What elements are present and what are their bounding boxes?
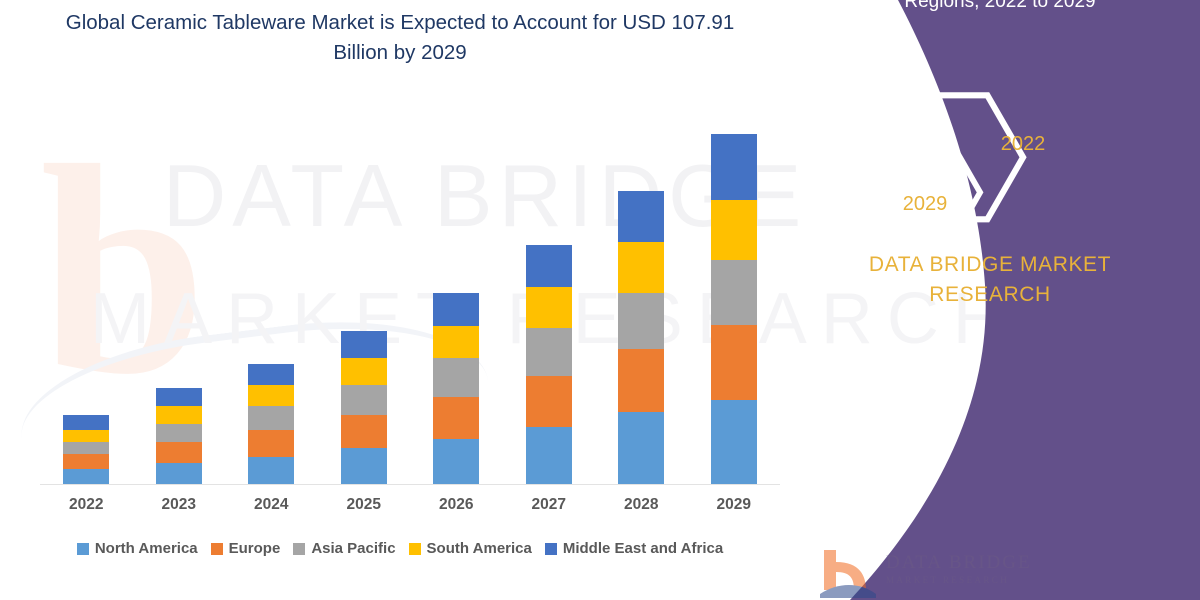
x-label-2023: 2023 <box>134 496 224 514</box>
segment-asia-pacific[interactable] <box>248 406 294 430</box>
segment-south-america[interactable] <box>433 326 479 359</box>
segment-south-america[interactable] <box>248 385 294 406</box>
infographic-root: b DATA BRIDGE MARKET RESEARCH Global Cer… <box>0 0 1200 600</box>
segment-middle-east-and-africa[interactable] <box>433 293 479 326</box>
chart-legend: North AmericaEuropeAsia PacificSouth Ame… <box>0 540 800 557</box>
brand-line-1: DATA BRIDGE MARKET <box>869 253 1111 276</box>
segment-asia-pacific[interactable] <box>433 358 479 397</box>
bar-2029[interactable] <box>711 134 757 484</box>
segment-asia-pacific[interactable] <box>711 260 757 326</box>
segment-south-america[interactable] <box>618 242 664 293</box>
legend-swatch-icon <box>77 543 89 555</box>
segment-middle-east-and-africa[interactable] <box>341 331 387 358</box>
segment-north-america[interactable] <box>63 469 109 484</box>
x-label-2025: 2025 <box>319 496 409 514</box>
segment-europe[interactable] <box>63 454 109 469</box>
bridge-logo-icon <box>820 548 876 598</box>
segment-middle-east-and-africa[interactable] <box>156 388 202 406</box>
segment-south-america[interactable] <box>711 200 757 260</box>
segment-north-america[interactable] <box>618 412 664 484</box>
legend-swatch-icon <box>545 543 557 555</box>
x-label-2022: 2022 <box>41 496 131 514</box>
segment-middle-east-and-africa[interactable] <box>618 191 664 242</box>
x-axis-labels: 20222023202420252026202720282029 <box>40 496 780 522</box>
segment-middle-east-and-africa[interactable] <box>711 134 757 200</box>
legend-item-asia-pacific[interactable]: Asia Pacific <box>293 540 395 557</box>
footer-logo-name: DATA BRIDGE <box>886 552 1032 574</box>
segment-europe[interactable] <box>711 325 757 400</box>
x-label-2028: 2028 <box>596 496 686 514</box>
segment-north-america[interactable] <box>248 457 294 484</box>
segment-north-america[interactable] <box>341 448 387 484</box>
legend-swatch-icon <box>211 543 223 555</box>
legend-label: Europe <box>229 540 281 557</box>
segment-south-america[interactable] <box>341 358 387 385</box>
chart-title: Global Ceramic Tableware Market is Expec… <box>60 8 740 68</box>
bar-2025[interactable] <box>341 331 387 484</box>
x-axis-line <box>40 484 780 485</box>
segment-middle-east-and-africa[interactable] <box>248 364 294 385</box>
hexagon-2029-label: 2029 <box>903 193 948 215</box>
legend-item-middle-east-and-africa[interactable]: Middle East and Africa <box>545 540 723 557</box>
legend-label: North America <box>95 540 198 557</box>
bar-2028[interactable] <box>618 191 664 484</box>
bar-2024[interactable] <box>248 364 294 484</box>
bar-2026[interactable] <box>433 293 479 484</box>
chart-region: Global Ceramic Tableware Market is Expec… <box>0 0 800 600</box>
segment-europe[interactable] <box>526 376 572 427</box>
segment-north-america[interactable] <box>156 463 202 484</box>
bar-2023[interactable] <box>156 388 202 484</box>
hexagon-2022-label: 2022 <box>1001 133 1046 155</box>
bar-2022[interactable] <box>63 415 109 484</box>
segment-north-america[interactable] <box>526 427 572 484</box>
legend-item-south-america[interactable]: South America <box>409 540 532 557</box>
segment-south-america[interactable] <box>63 430 109 442</box>
x-label-2024: 2024 <box>226 496 316 514</box>
segment-asia-pacific[interactable] <box>156 424 202 442</box>
panel-title: Regions, 2022 to 2029 <box>810 0 1190 16</box>
brand-name: DATA BRIDGE MARKET RESEARCH <box>800 250 1180 310</box>
segment-south-america[interactable] <box>526 287 572 329</box>
legend-swatch-icon <box>293 543 305 555</box>
x-label-2027: 2027 <box>504 496 594 514</box>
brand-panel: Regions, 2022 to 2029 2022 2029 DATA BRI… <box>780 0 1200 600</box>
segment-asia-pacific[interactable] <box>341 385 387 415</box>
segment-middle-east-and-africa[interactable] <box>526 245 572 287</box>
segment-europe[interactable] <box>341 415 387 448</box>
segment-asia-pacific[interactable] <box>526 328 572 376</box>
legend-item-north-america[interactable]: North America <box>77 540 198 557</box>
brand-line-2: RESEARCH <box>929 283 1051 306</box>
segment-europe[interactable] <box>156 442 202 463</box>
plot-area <box>40 100 780 484</box>
x-label-2029: 2029 <box>689 496 779 514</box>
legend-label: Asia Pacific <box>311 540 395 557</box>
segment-europe[interactable] <box>248 430 294 457</box>
segment-south-america[interactable] <box>156 406 202 424</box>
segment-north-america[interactable] <box>711 400 757 484</box>
legend-label: Middle East and Africa <box>563 540 723 557</box>
segment-asia-pacific[interactable] <box>63 442 109 454</box>
legend-swatch-icon <box>409 543 421 555</box>
segment-middle-east-and-africa[interactable] <box>63 415 109 430</box>
segment-north-america[interactable] <box>433 439 479 484</box>
segment-europe[interactable] <box>433 397 479 439</box>
footer-logo-tagline: MARKET RESEARCH <box>886 575 1009 585</box>
x-label-2026: 2026 <box>411 496 501 514</box>
segment-asia-pacific[interactable] <box>618 293 664 350</box>
bar-2027[interactable] <box>526 245 572 484</box>
footer-logo: DATA BRIDGE MARKET RESEARCH <box>820 548 1080 600</box>
segment-europe[interactable] <box>618 349 664 412</box>
hexagon-group: 2022 2029 <box>780 88 1200 238</box>
legend-label: South America <box>427 540 532 557</box>
legend-item-europe[interactable]: Europe <box>211 540 281 557</box>
